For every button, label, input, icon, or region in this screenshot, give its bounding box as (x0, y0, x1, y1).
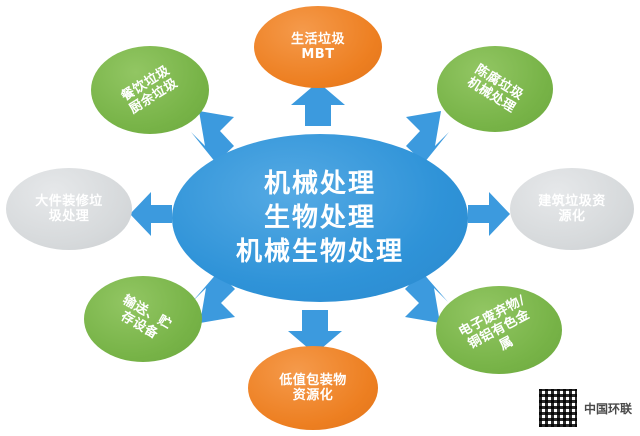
node-chenfu-label: 陈腐垃圾 机械处理 (464, 62, 526, 117)
arrow-to-dajian (130, 192, 172, 236)
node-mbt[interactable]: 生活垃圾 MBT (254, 6, 382, 88)
node-jianzhu-label: 建筑垃圾资 源化 (538, 194, 606, 225)
hub-node[interactable]: 机械处理 生物处理 机械生物处理 (172, 134, 468, 302)
node-dajian-label: 大件装修垃 圾处理 (35, 194, 103, 225)
node-shusong-label: 输送、贮 存设备 (112, 292, 174, 346)
node-dianzi[interactable]: 电子废弃物/ 铜铝有色金 属 (436, 286, 562, 374)
node-canyin-label: 餐饮垃圾 厨余垃圾 (119, 63, 181, 118)
watermark-badge: 中国环联 (538, 388, 632, 428)
node-mbt-label: 生活垃圾 MBT (291, 32, 345, 63)
arrow-to-mbt (291, 82, 345, 126)
node-dajian[interactable]: 大件装修垃 圾处理 (6, 168, 132, 250)
node-shusong[interactable]: 输送、贮 存设备 (84, 276, 202, 362)
node-dizhi[interactable]: 低值包装物 资源化 (248, 346, 378, 430)
badge-label: 中国环联 (584, 400, 632, 417)
node-canyin[interactable]: 餐饮垃圾 厨余垃圾 (91, 46, 209, 134)
arrow-to-jianzhu (468, 192, 510, 236)
node-dizhi-label: 低值包装物 资源化 (279, 373, 347, 404)
hub-label: 机械处理 生物处理 机械生物处理 (236, 167, 404, 270)
node-dianzi-label: 电子废弃物/ 铜铝有色金 属 (456, 293, 542, 368)
qr-code-icon (538, 388, 578, 428)
diagram-canvas: 机械处理 生物处理 机械生物处理 生活垃圾 MBT 餐饮垃圾 厨余垃圾 陈腐垃圾… (0, 0, 640, 436)
node-jianzhu[interactable]: 建筑垃圾资 源化 (510, 168, 634, 250)
node-chenfu[interactable]: 陈腐垃圾 机械处理 (437, 46, 553, 132)
